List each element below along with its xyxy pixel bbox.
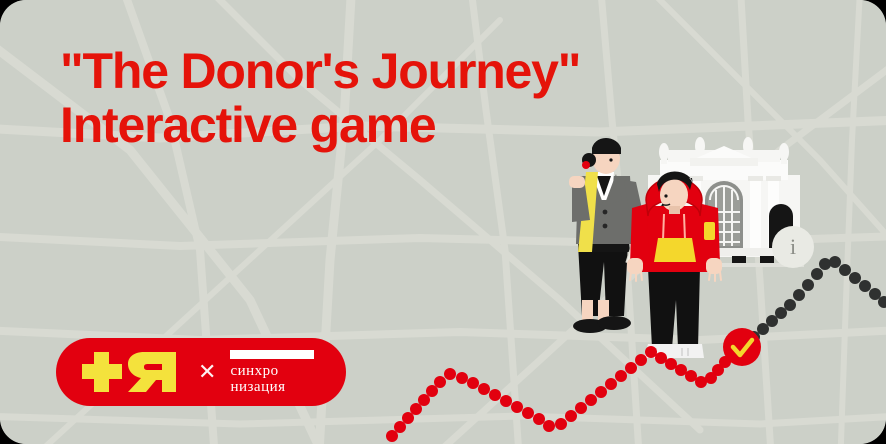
title-line-2: Interactive game [60, 98, 720, 152]
info-icon: i [790, 236, 796, 258]
partner-logo: синхро низация [230, 350, 314, 395]
partner-line-2: низация [230, 379, 285, 395]
plus-ya-logo-icon [82, 348, 186, 396]
partner-line-1: синхро [230, 363, 278, 379]
route-checkpoint-marker[interactable] [723, 328, 761, 366]
promo-banner: i "The Donor's Journey" Interactive game… [0, 0, 886, 444]
logo-lockup[interactable]: ✕ синхро низация [56, 338, 346, 406]
route-completed [386, 346, 731, 442]
partner-bar [230, 350, 314, 359]
map-info-marker[interactable]: i [772, 226, 814, 268]
route-upcoming [748, 256, 886, 343]
page-title: "The Donor's Journey" Interactive game [60, 44, 720, 152]
cross-separator-icon: ✕ [198, 361, 216, 383]
title-line-1: "The Donor's Journey" [60, 44, 720, 98]
